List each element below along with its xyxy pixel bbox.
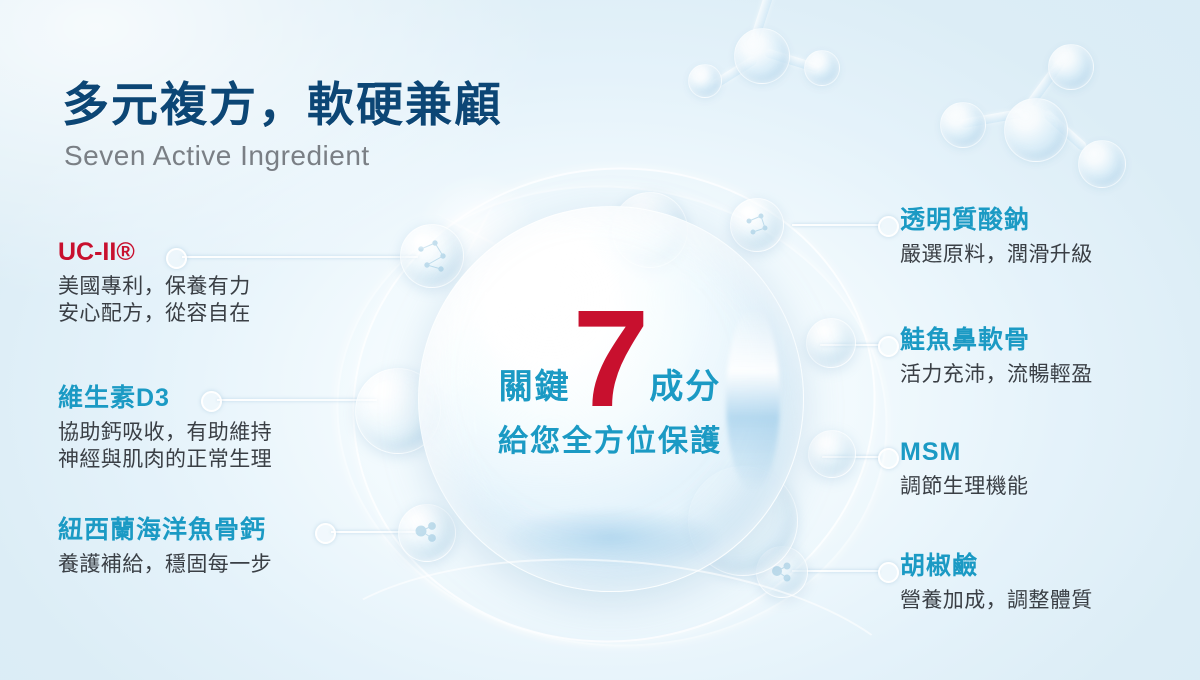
- bubble-molecule-icon: [399, 505, 455, 561]
- connector-line-ha: [792, 224, 880, 226]
- satellite-bubble-7: [808, 430, 856, 478]
- node-marker-calcium: [315, 523, 336, 544]
- ingredient-infographic: 關鍵 7 成分 給您全方位保護 多元複方，軟硬兼顧 Seven Active I…: [0, 0, 1200, 680]
- molecule-atom: [1048, 44, 1094, 90]
- node-marker-ha: [878, 216, 899, 237]
- main-bubble: [418, 206, 804, 592]
- node-marker-piperine: [878, 562, 899, 583]
- ingredient-sodium-hyaluronate: 透明質酸鈉 嚴選原料，潤滑升級: [900, 206, 1093, 268]
- bubble-highlight: [480, 245, 634, 360]
- molecule-atom: [1078, 140, 1126, 188]
- ingredient-name: UC-II®: [58, 238, 251, 267]
- bubble-highlight: [726, 307, 780, 491]
- node-marker-msm: [878, 448, 899, 469]
- page-title: 多元複方，軟硬兼顧: [62, 66, 503, 135]
- molecule-decoration-right: [930, 10, 1130, 160]
- molecule-atom: [804, 50, 840, 86]
- satellite-bubble-1: [400, 224, 464, 288]
- bubble-molecule-icon: [731, 199, 783, 251]
- ingredient-name: 透明質酸鈉: [900, 206, 1093, 235]
- satellite-bubble-5: [730, 198, 784, 252]
- ingredient-name: 胡椒鹼: [900, 552, 1093, 581]
- ingredient-name: 紐西蘭海洋魚骨鈣: [58, 516, 272, 545]
- ingredient-salmon-nasal-cartilage: 鮭魚鼻軟骨 活力充沛，流暢輕盈: [900, 326, 1093, 388]
- molecule-atom: [940, 102, 986, 148]
- molecule-atom: [734, 28, 790, 84]
- molecule-atom: [1004, 98, 1068, 162]
- ingredient-fish-bone-calcium: 紐西蘭海洋魚骨鈣 養護補給，穩固每一步: [58, 516, 272, 578]
- molecule-atom: [688, 64, 722, 98]
- ingredient-piperine: 胡椒鹼 營養加成，調整體質: [900, 552, 1093, 614]
- ingredient-description: 調節生理機能: [900, 473, 1028, 501]
- bubble-molecule-icon: [401, 225, 463, 287]
- ingredient-description: 養護補給，穩固每一步: [58, 551, 272, 579]
- ingredient-description: 營養加成，調整體質: [900, 587, 1093, 615]
- ingredient-description: 活力充沛，流暢輕盈: [900, 361, 1093, 389]
- ingredient-name: MSM: [900, 438, 1028, 467]
- page-subtitle: Seven Active Ingredient: [64, 140, 370, 172]
- ingredient-vitamin-d3: 維生素D3 協助鈣吸收，有助維持神經與肌肉的正常生理: [58, 384, 272, 474]
- satellite-bubble-3: [398, 504, 456, 562]
- ingredient-description: 嚴選原料，潤滑升級: [900, 241, 1093, 269]
- ingredient-description: 協助鈣吸收，有助維持神經與肌肉的正常生理: [58, 419, 272, 474]
- ingredient-name: 維生素D3: [58, 384, 272, 413]
- ingredient-uc2: UC-II® 美國專利，保養有力安心配方，從容自在: [58, 238, 251, 328]
- bubble-shadow: [503, 507, 718, 568]
- molecule-decoration-left: [672, 6, 852, 116]
- satellite-bubble-6: [806, 318, 856, 368]
- node-marker-salmon: [878, 336, 899, 357]
- ingredient-msm: MSM 調節生理機能: [900, 438, 1028, 500]
- ingredient-description: 美國專利，保養有力安心配方，從容自在: [58, 273, 251, 328]
- ingredient-name: 鮭魚鼻軟骨: [900, 326, 1093, 355]
